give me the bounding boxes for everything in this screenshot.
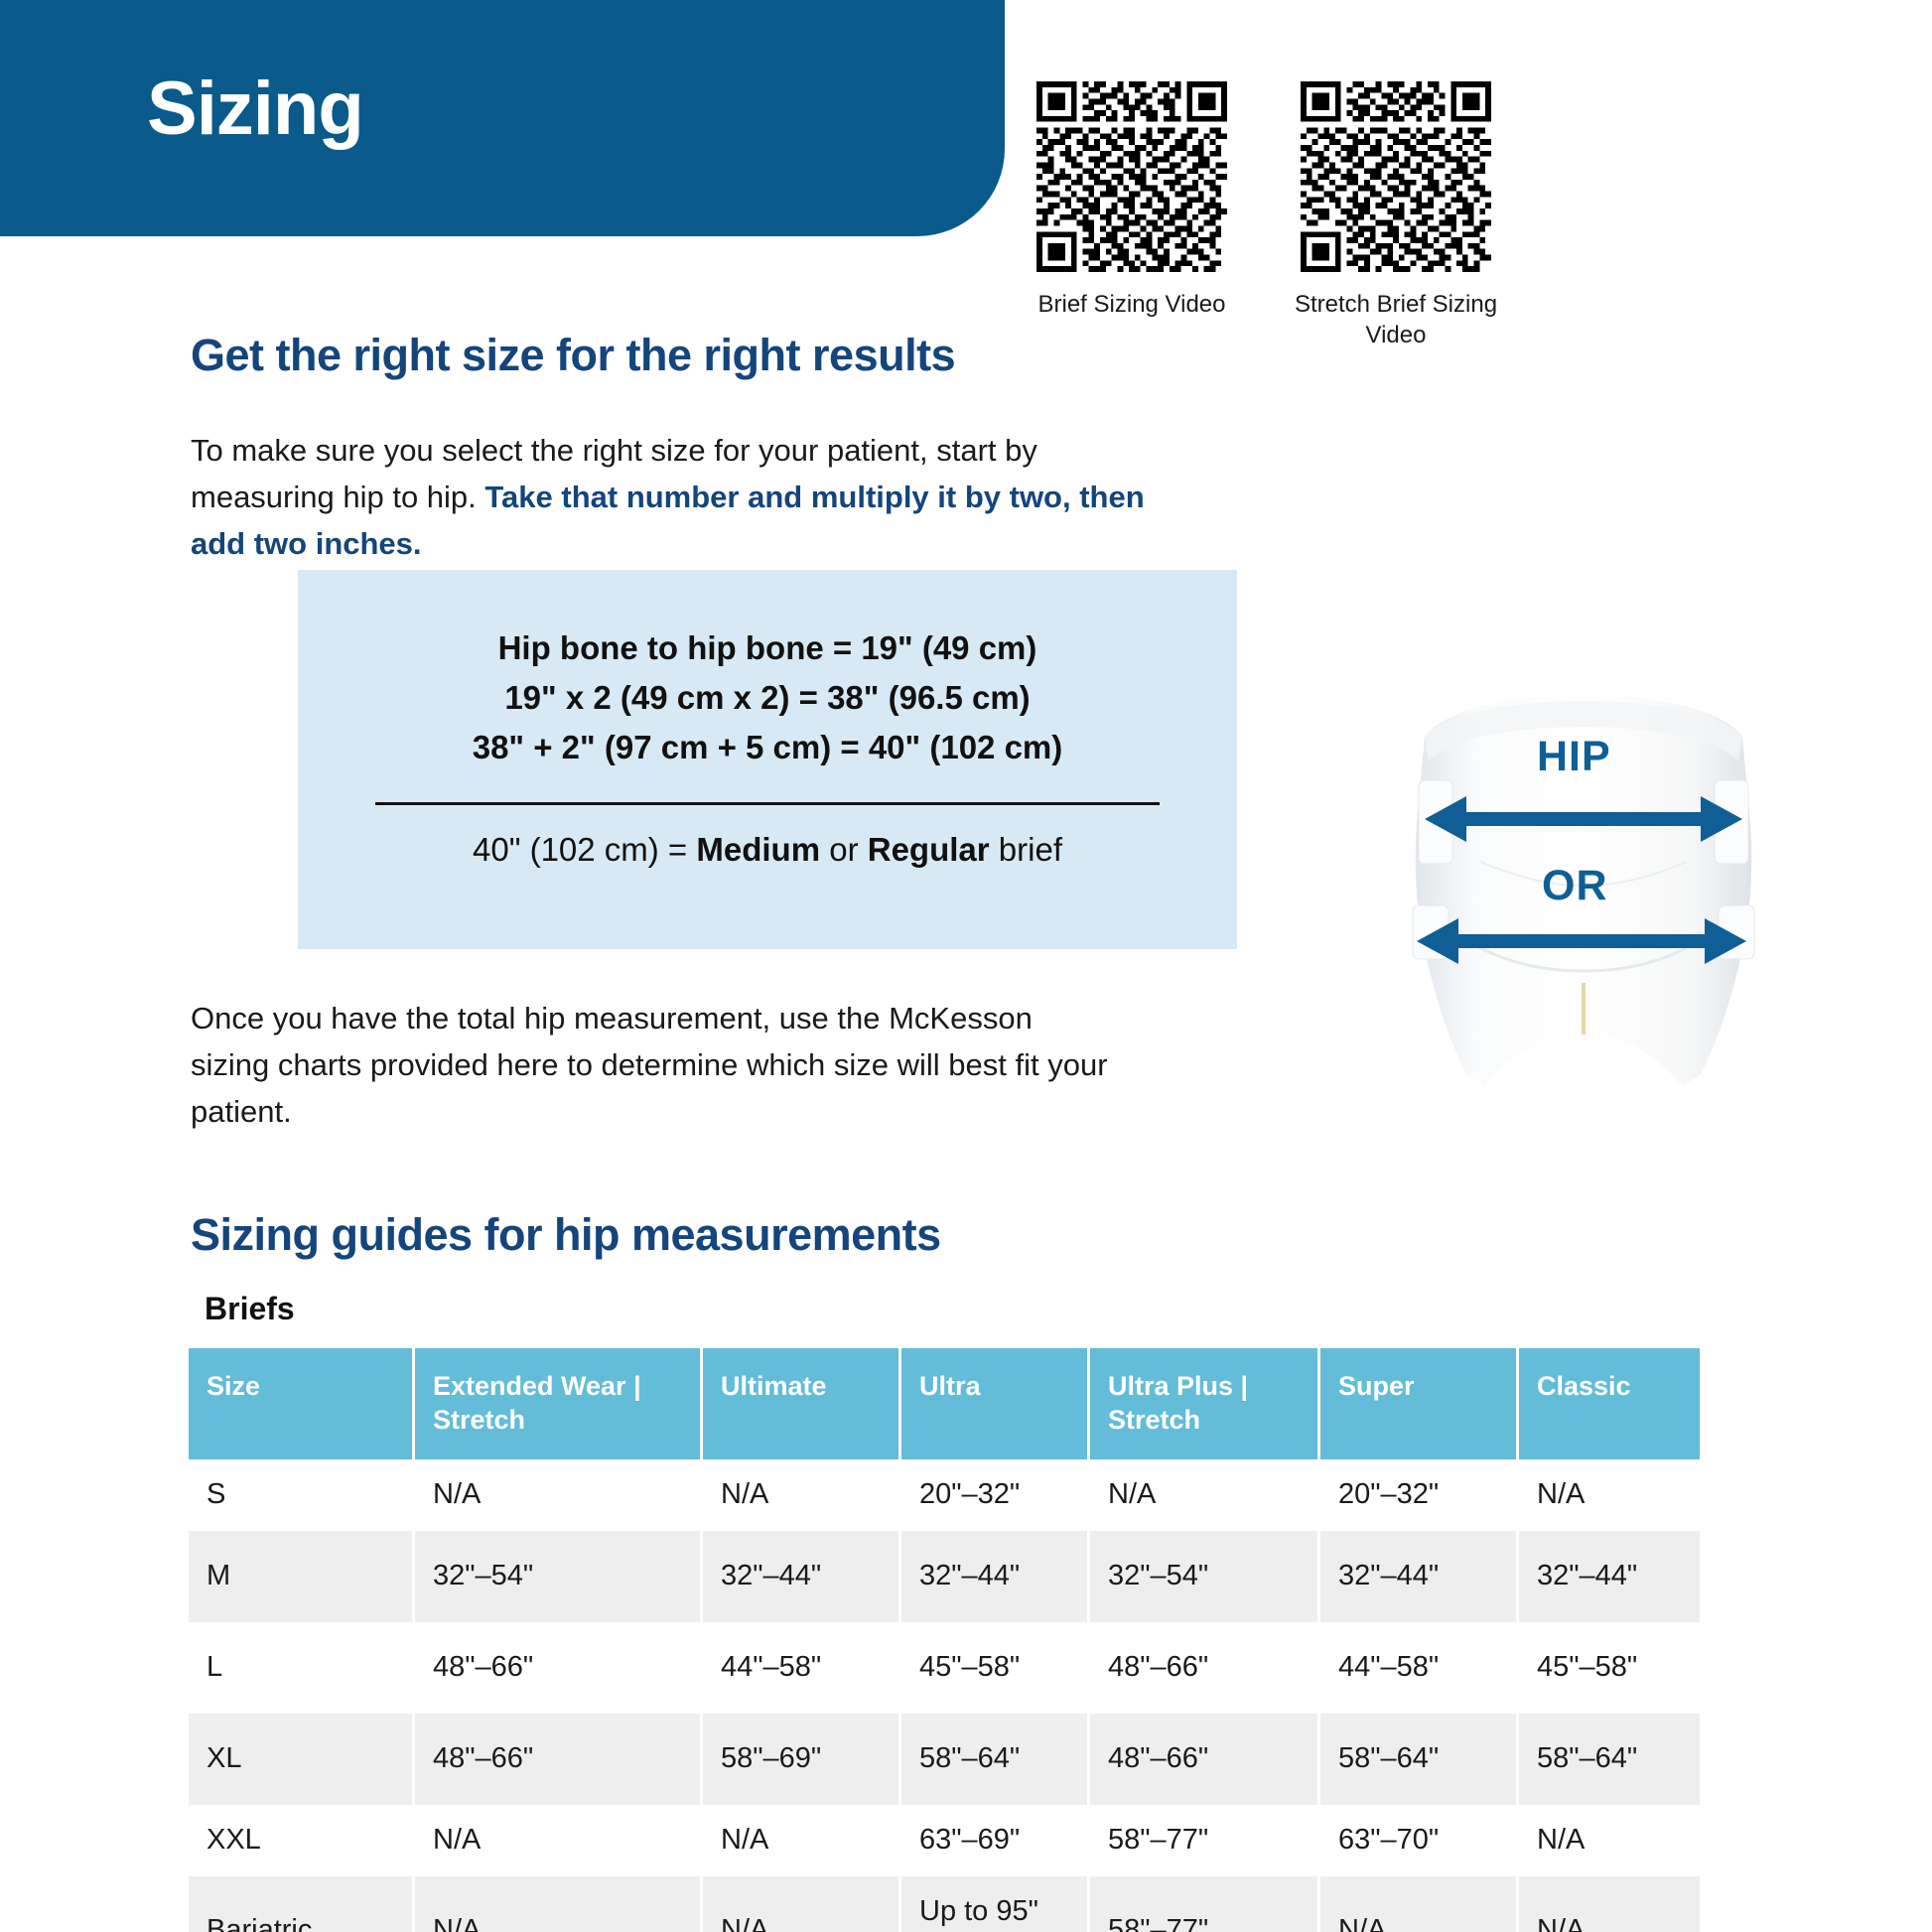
cell-value-1: 44"–58"	[703, 1622, 901, 1714]
cell-value-0: N/A	[415, 1459, 703, 1531]
calc-result-size-regular: Regular	[868, 831, 990, 868]
table-row: M 32"–54" 32"–44" 32"–44" 32"–54" 32"–44…	[189, 1531, 1700, 1622]
cell-value-5: 32"–44"	[1519, 1531, 1700, 1622]
stretch-brief-sizing-video-qr-block[interactable]: Stretch Brief Sizing Video	[1301, 81, 1523, 350]
cell-value-3: 32"–54"	[1090, 1531, 1320, 1622]
cell-value-4: 20"–32"	[1320, 1459, 1519, 1531]
briefs-sizing-table: Size Extended Wear | Stretch Ultimate Ul…	[189, 1348, 1700, 1932]
calc-result-size-medium: Medium	[696, 831, 820, 868]
cell-size: Bariatric	[189, 1876, 415, 1932]
column-header-size: Size	[189, 1348, 415, 1459]
cell-size: L	[189, 1622, 415, 1714]
cell-value-5: N/A	[1519, 1459, 1700, 1531]
cell-value-2: 63"–69"	[901, 1805, 1090, 1876]
cell-size: XXL	[189, 1805, 415, 1876]
cell-value-0: 48"–66"	[415, 1622, 703, 1714]
cell-value-0: 48"–66"	[415, 1714, 703, 1805]
column-header-classic: Classic	[1519, 1348, 1700, 1459]
cell-value-5: 45"–58"	[1519, 1622, 1700, 1714]
column-header-super: Super	[1320, 1348, 1519, 1459]
intro-paragraph: To make sure you select the right size f…	[191, 427, 1183, 567]
cell-value-1: 58"–69"	[703, 1714, 901, 1805]
cell-value-4: 44"–58"	[1320, 1622, 1519, 1714]
table-row: S N/A N/A 20"–32" N/A 20"–32" N/A	[189, 1459, 1700, 1531]
column-header-ultimate: Ultimate	[703, 1348, 901, 1459]
section-heading-right-size: Get the right size for the right results	[191, 330, 955, 381]
table-row: L 48"–66" 44"–58" 45"–58" 48"–66" 44"–58…	[189, 1622, 1700, 1714]
cell-value-3: 58"–77"	[1090, 1805, 1320, 1876]
cell-value-0: 32"–54"	[415, 1531, 703, 1622]
page-title: Sizing	[147, 71, 363, 147]
followup-paragraph: Once you have the total hip measurement,…	[191, 995, 1114, 1135]
cell-value-1: N/A	[703, 1459, 901, 1531]
calc-result-suffix: brief	[990, 831, 1062, 868]
table-title-briefs: Briefs	[205, 1291, 295, 1327]
cell-value-5: N/A	[1519, 1805, 1700, 1876]
calc-line-3: 38" + 2" (97 cm + 5 cm) = 40" (102 cm)	[298, 723, 1237, 772]
brief-sizing-video-caption: Brief Sizing Video	[1011, 290, 1253, 321]
cell-value-1: 32"–44"	[703, 1531, 901, 1622]
cell-value-2: 58"–64"	[901, 1714, 1090, 1805]
cell-value-2: 45"–58"	[901, 1622, 1090, 1714]
calc-line-1: Hip bone to hip bone = 19" (49 cm)	[298, 623, 1237, 673]
page-header-banner: Sizing	[0, 0, 1005, 236]
table-row: Bariatric N/A N/A Up to 95" Waist 58"–77…	[189, 1876, 1700, 1932]
cell-value-1: N/A	[703, 1805, 901, 1876]
cell-value-4: N/A	[1320, 1876, 1519, 1932]
calc-divider	[375, 802, 1160, 805]
cell-value-4: 58"–64"	[1320, 1714, 1519, 1805]
column-header-extended-wear: Extended Wear | Stretch	[415, 1348, 703, 1459]
column-header-ultra-plus: Ultra Plus | Stretch	[1090, 1348, 1320, 1459]
sizing-guide-page: Sizing	[0, 0, 1932, 1932]
section-heading-sizing-guides: Sizing guides for hip measurements	[191, 1209, 941, 1261]
cell-value-4: 63"–70"	[1320, 1805, 1519, 1876]
cell-value-2: Up to 95" Waist	[901, 1876, 1090, 1932]
hip-measurement-calculation-box: Hip bone to hip bone = 19" (49 cm) 19" x…	[298, 570, 1237, 949]
cell-size: XL	[189, 1714, 415, 1805]
cell-value-2: 32"–44"	[901, 1531, 1090, 1622]
column-header-ultra: Ultra	[901, 1348, 1090, 1459]
table-header-row: Size Extended Wear | Stretch Ultimate Ul…	[189, 1348, 1700, 1459]
brief-sizing-video-qr-icon[interactable]	[1036, 81, 1227, 272]
cell-value-3: 48"–66"	[1090, 1714, 1320, 1805]
calc-result-conjunction: or	[820, 831, 868, 868]
cell-value-3: 48"–66"	[1090, 1622, 1320, 1714]
cell-value-5: 58"–64"	[1519, 1714, 1700, 1805]
stretch-brief-sizing-video-qr-icon[interactable]	[1301, 81, 1491, 272]
cell-value-3: 58"–77"	[1090, 1876, 1320, 1932]
cell-value-4: 32"–44"	[1320, 1531, 1519, 1622]
brief-sizing-video-qr-block[interactable]: Brief Sizing Video	[1036, 81, 1253, 321]
hip-measurement-label: HIP	[1537, 733, 1611, 781]
cell-size: S	[189, 1459, 415, 1531]
cell-value-0: N/A	[415, 1805, 703, 1876]
cell-value-5: N/A	[1519, 1876, 1700, 1932]
calc-result-prefix: 40" (102 cm) =	[473, 831, 696, 868]
cell-value-1: N/A	[703, 1876, 901, 1932]
stretch-brief-sizing-video-caption: Stretch Brief Sizing Video	[1269, 290, 1523, 350]
cell-value-3: N/A	[1090, 1459, 1320, 1531]
cell-value-2: 20"–32"	[901, 1459, 1090, 1531]
or-measurement-label: OR	[1542, 862, 1608, 910]
calc-line-2: 19" x 2 (49 cm x 2) = 38" (96.5 cm)	[298, 673, 1237, 723]
cell-size: M	[189, 1531, 415, 1622]
table-row: XXL N/A N/A 63"–69" 58"–77" 63"–70" N/A	[189, 1805, 1700, 1876]
calc-result: 40" (102 cm) = Medium or Regular brief	[298, 831, 1237, 869]
cell-value-0: N/A	[415, 1876, 703, 1932]
table-row: XL 48"–66" 58"–69" 58"–64" 48"–66" 58"–6…	[189, 1714, 1700, 1805]
